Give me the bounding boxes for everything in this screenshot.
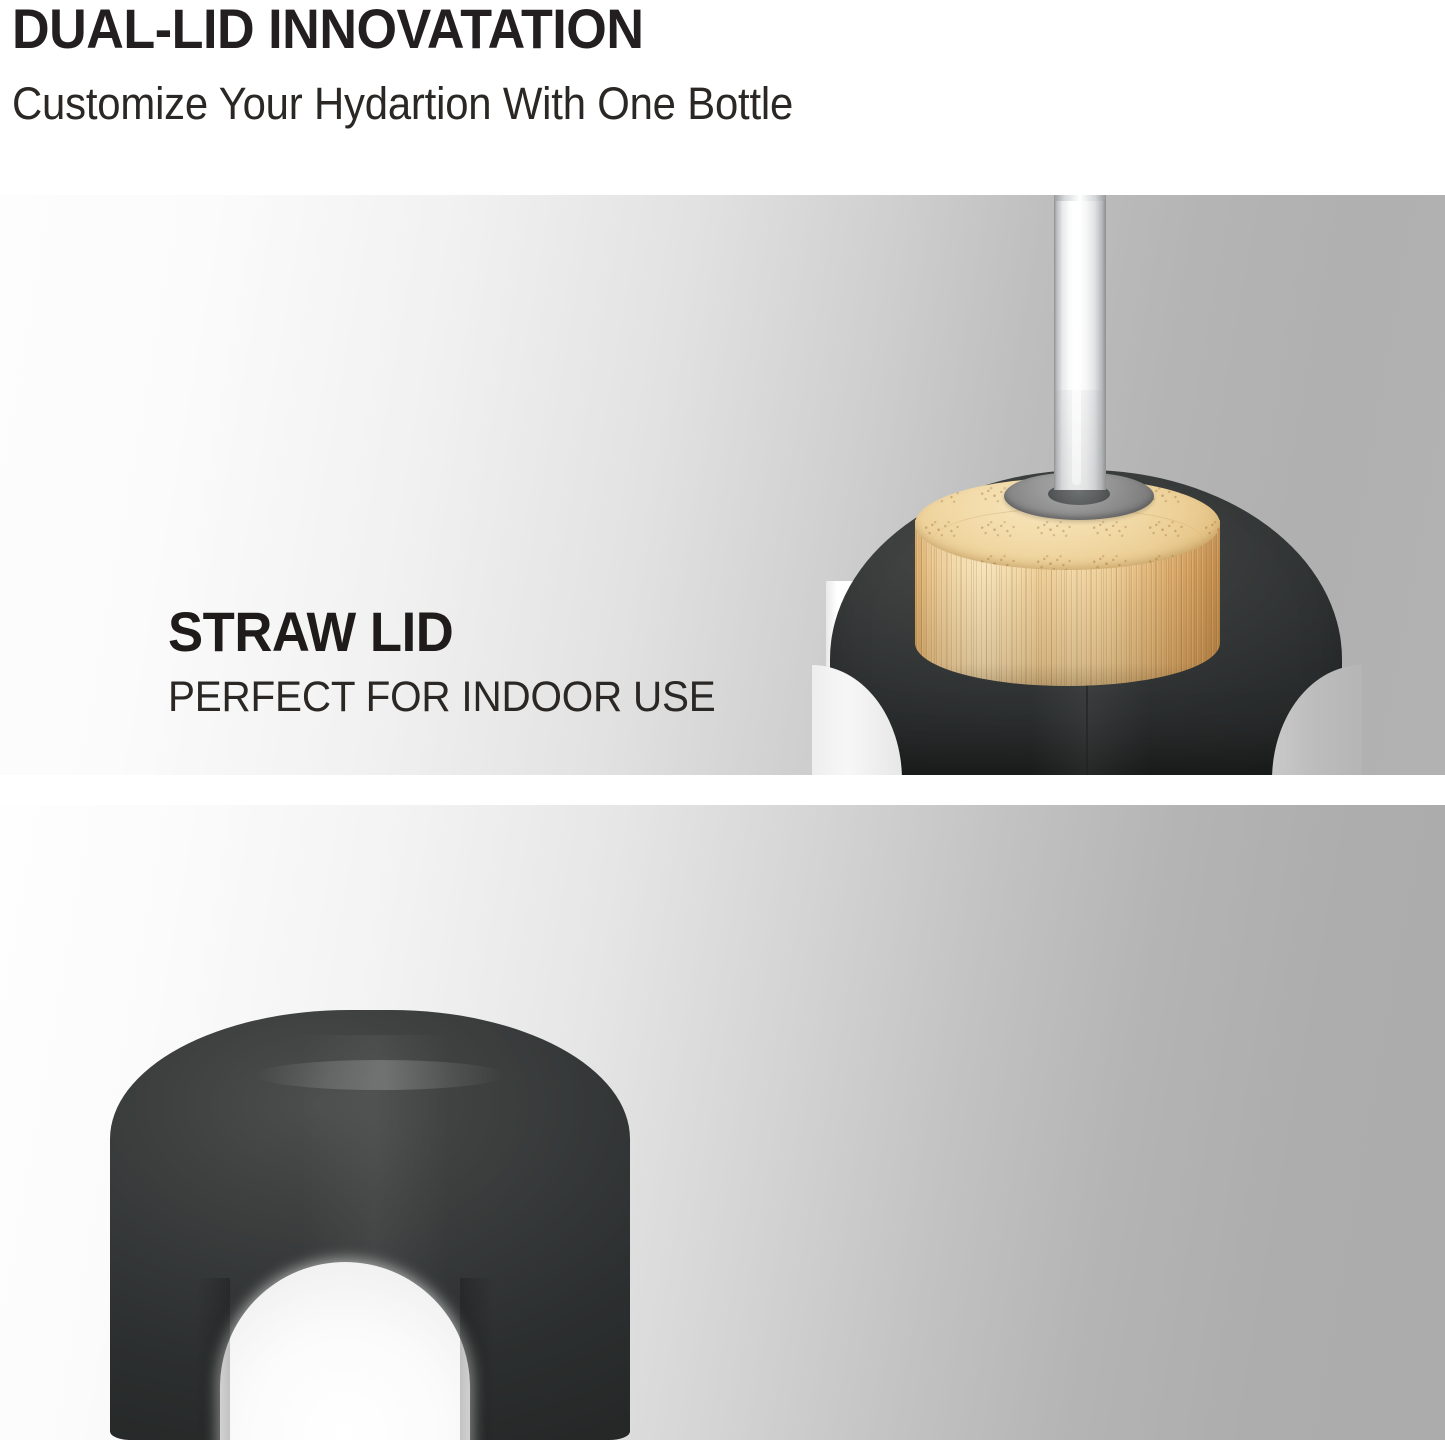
product-feature-graphic: DUAL-LID INNOVATATION Customize Your Hyd… xyxy=(0,0,1445,1452)
panel-divider xyxy=(0,775,1445,805)
straw-lid-panel: STRAW LID PERFECT FOR INDOOR USE xyxy=(0,195,1445,775)
straw-lid-subheading: PERFECT FOR INDOOR USE xyxy=(168,668,716,726)
page-subtitle: Customize Your Hydartion With One Bottle xyxy=(12,74,793,134)
straw-lid-callout: STRAW LID PERFECT FOR INDOOR USE xyxy=(168,600,751,726)
page-title: DUAL-LID INNOVATATION xyxy=(12,0,643,60)
window-inner-shadow-left xyxy=(196,1278,230,1452)
header-band: DUAL-LID INNOVATATION Customize Your Hyd… xyxy=(0,0,1445,195)
neck-gloss-reflection xyxy=(255,1060,505,1090)
footer-band xyxy=(0,1440,1445,1452)
straw-highlight xyxy=(1072,195,1081,485)
straw-lid-heading: STRAW LID xyxy=(168,600,716,664)
straw-top-rim xyxy=(1054,195,1106,201)
window-inner-shadow-right xyxy=(460,1278,494,1452)
